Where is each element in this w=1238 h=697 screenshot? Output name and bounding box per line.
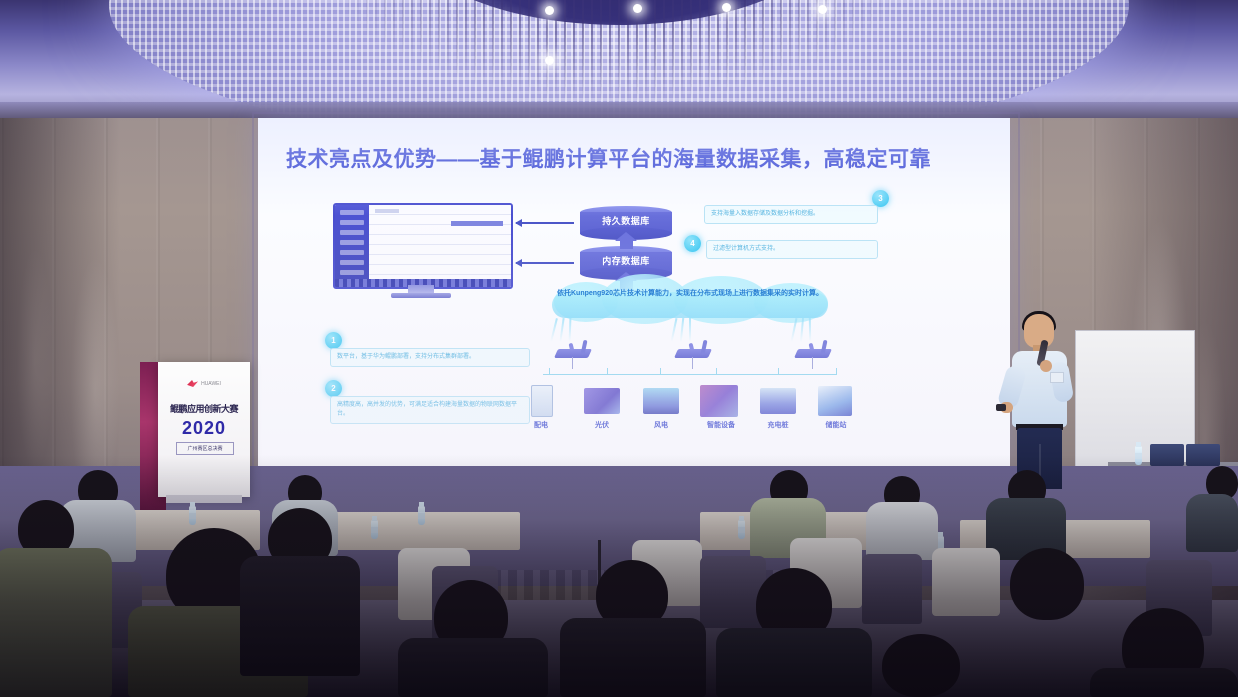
bus-drop <box>660 368 661 375</box>
callout-badge-2: 2 <box>325 380 342 397</box>
edge-gateway <box>676 340 716 364</box>
device-bus-line <box>543 374 837 375</box>
bus-drop <box>716 368 717 375</box>
callout-badge-1: 1 <box>325 332 342 349</box>
slide-title: 技术亮点及优势——基于鲲鹏计算平台的海量数据采集，高稳定可靠 <box>286 143 986 173</box>
device-label-power-distribution: 配电 <box>521 420 561 430</box>
audience-table <box>330 512 520 550</box>
callout-badge-4: 4 <box>684 235 701 252</box>
ceiling <box>0 0 1238 118</box>
water-bottle <box>371 520 378 539</box>
water-bottle <box>738 520 745 539</box>
monitor-status-tag <box>451 221 503 226</box>
device-icon-power-distribution <box>531 385 553 417</box>
presenter-mic-hand <box>1040 360 1052 372</box>
bus-drop <box>836 368 837 375</box>
edge-gateway <box>796 340 836 364</box>
device-label-smart-equipment: 智能设备 <box>699 420 743 430</box>
dashboard-monitor-mockup <box>333 203 509 295</box>
presenter-head <box>1024 314 1054 348</box>
chandelier-strands <box>339 0 899 100</box>
ceiling-spotlight <box>722 3 731 12</box>
water-bottle <box>1135 446 1142 465</box>
device-icon-smart-equipment <box>700 385 738 417</box>
audience-torso <box>0 548 112 697</box>
event-standee: HUAWEI 鲲鹏应用创新大赛 2020 广州赛区总决赛 <box>158 362 250 497</box>
audience-torso <box>1090 668 1238 697</box>
arrow-memory-to-monitor <box>516 262 574 264</box>
device-icon-photovoltaic <box>584 388 620 414</box>
presenter <box>1000 314 1080 489</box>
standee-brand: HUAWEI <box>158 380 250 387</box>
audience-torso <box>716 628 872 697</box>
ceiling-spotlight <box>818 5 827 14</box>
standee-base <box>166 495 242 503</box>
audience-torso <box>398 638 548 697</box>
device-icon-charging-pile <box>760 388 796 414</box>
huawei-logo-icon <box>187 380 198 387</box>
bus-drop <box>607 368 608 375</box>
audience-head <box>882 634 960 697</box>
standee-subtitle: 广州赛区总决赛 <box>176 442 234 455</box>
device-label-wind-power: 风电 <box>641 420 681 430</box>
arrow-persistent-to-monitor <box>516 222 574 224</box>
callout-text-1: 数平台，基于华为鲲鹏部署，支持分布式集群部署。 <box>330 348 530 367</box>
device-icon-wind-power <box>643 388 679 414</box>
monitor-content <box>369 205 511 287</box>
standee-year: 2020 <box>158 418 250 439</box>
device-label-energy-storage: 储能站 <box>816 420 856 430</box>
bus-drop <box>778 368 779 375</box>
callout-text-4: 过滤型计算机方式支持。 <box>706 240 878 259</box>
device-icon-energy-storage <box>818 386 852 416</box>
standee-title: 鲲鹏应用创新大赛 <box>158 402 250 415</box>
bus-drop <box>549 368 550 375</box>
ceiling-spotlight <box>633 4 642 13</box>
memory-database-label: 内存数据库 <box>580 254 672 267</box>
ceiling-spotlight <box>545 56 554 65</box>
audience-torso <box>240 556 360 676</box>
audience-torso <box>560 618 706 697</box>
monitor-foot <box>391 293 451 298</box>
standee-brand-text: HUAWEI <box>201 381 221 387</box>
audience-torso <box>1186 494 1238 552</box>
ceiling-spotlight <box>545 6 554 15</box>
callout-text-3: 支持海量入数据存储及数据分析和挖掘。 <box>704 205 878 224</box>
audience-torso <box>866 502 938 560</box>
callout-text-2: 高精度高，高并发的优势，可满足适合构建海量数据的物联网数据平台。 <box>330 396 530 424</box>
arrow-memory-to-persistent <box>620 240 633 249</box>
monitor-screen <box>333 203 513 289</box>
conference-photo: 技术亮点及优势——基于鲲鹏计算平台的海量数据采集，高稳定可靠 持久数据库 内存数… <box>0 0 1238 697</box>
chair <box>700 556 766 628</box>
monitor-topbar <box>375 209 399 213</box>
persistent-database-label: 持久数据库 <box>580 214 672 227</box>
water-bottle <box>189 506 196 525</box>
device-label-charging-pile: 充电桩 <box>758 420 798 430</box>
edge-gateway <box>556 340 596 364</box>
cloud-description: 依托Kunpeng920芯片技术计算能力，实现在分布式现场上进行数据集采的实时计… <box>540 288 840 300</box>
monitor-sidebar <box>335 205 369 287</box>
presenter-shirt-badge <box>1050 372 1064 383</box>
water-bottle <box>418 506 425 525</box>
chair <box>862 554 922 624</box>
device-label-photovoltaic: 光伏 <box>582 420 622 430</box>
presentation-clicker <box>996 404 1006 411</box>
